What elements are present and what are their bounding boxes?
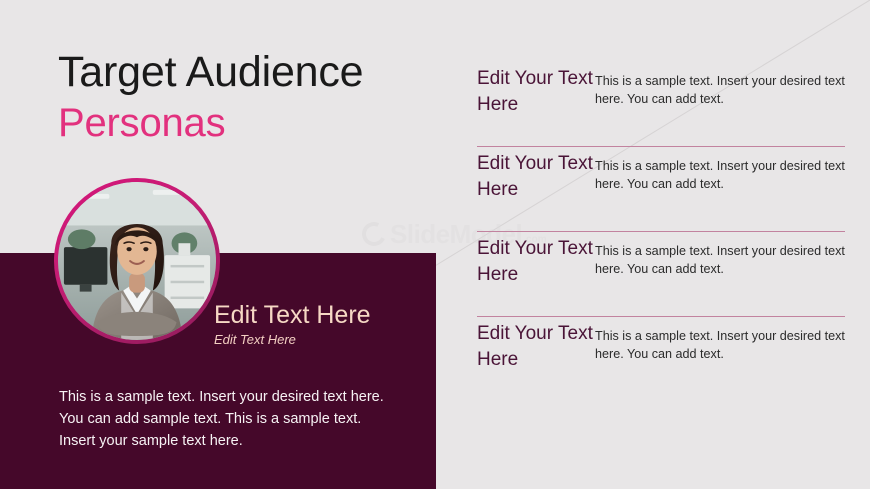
page-title: Target Audience Personas xyxy=(58,46,363,148)
slidemodel-ring-logo-icon xyxy=(359,219,390,250)
persona-heading: Edit Text Here xyxy=(214,300,371,330)
list-item-body: This is a sample text. Insert your desir… xyxy=(595,62,845,108)
list-item-heading: Edit Your Text Here xyxy=(477,232,595,288)
list-item-body: This is a sample text. Insert your desir… xyxy=(595,232,845,278)
avatar-photo xyxy=(58,182,216,340)
slide-canvas: Target Audience Personas xyxy=(0,0,870,489)
avatar[interactable] xyxy=(54,178,220,344)
list-item[interactable]: Edit Your Text Here This is a sample tex… xyxy=(477,62,845,146)
list-item-body: This is a sample text. Insert your desir… xyxy=(595,317,845,363)
list-item[interactable]: Edit Your Text Here This is a sample tex… xyxy=(477,147,845,231)
persona-subheading: Edit Text Here xyxy=(214,331,296,349)
title-line-accent: Personas xyxy=(58,98,363,148)
persona-body-text: This is a sample text. Insert your desir… xyxy=(59,386,389,452)
list-item-body: This is a sample text. Insert your desir… xyxy=(595,147,845,193)
persona-attribute-list: Edit Your Text Here This is a sample tex… xyxy=(477,62,845,401)
list-item-heading: Edit Your Text Here xyxy=(477,62,595,118)
list-item[interactable]: Edit Your Text Here This is a sample tex… xyxy=(477,232,845,316)
list-item-heading: Edit Your Text Here xyxy=(477,317,595,373)
businesswoman-portrait-photo xyxy=(58,182,216,340)
list-item-heading: Edit Your Text Here xyxy=(477,147,595,203)
list-item[interactable]: Edit Your Text Here This is a sample tex… xyxy=(477,317,845,401)
title-line-primary: Target Audience xyxy=(58,46,363,98)
